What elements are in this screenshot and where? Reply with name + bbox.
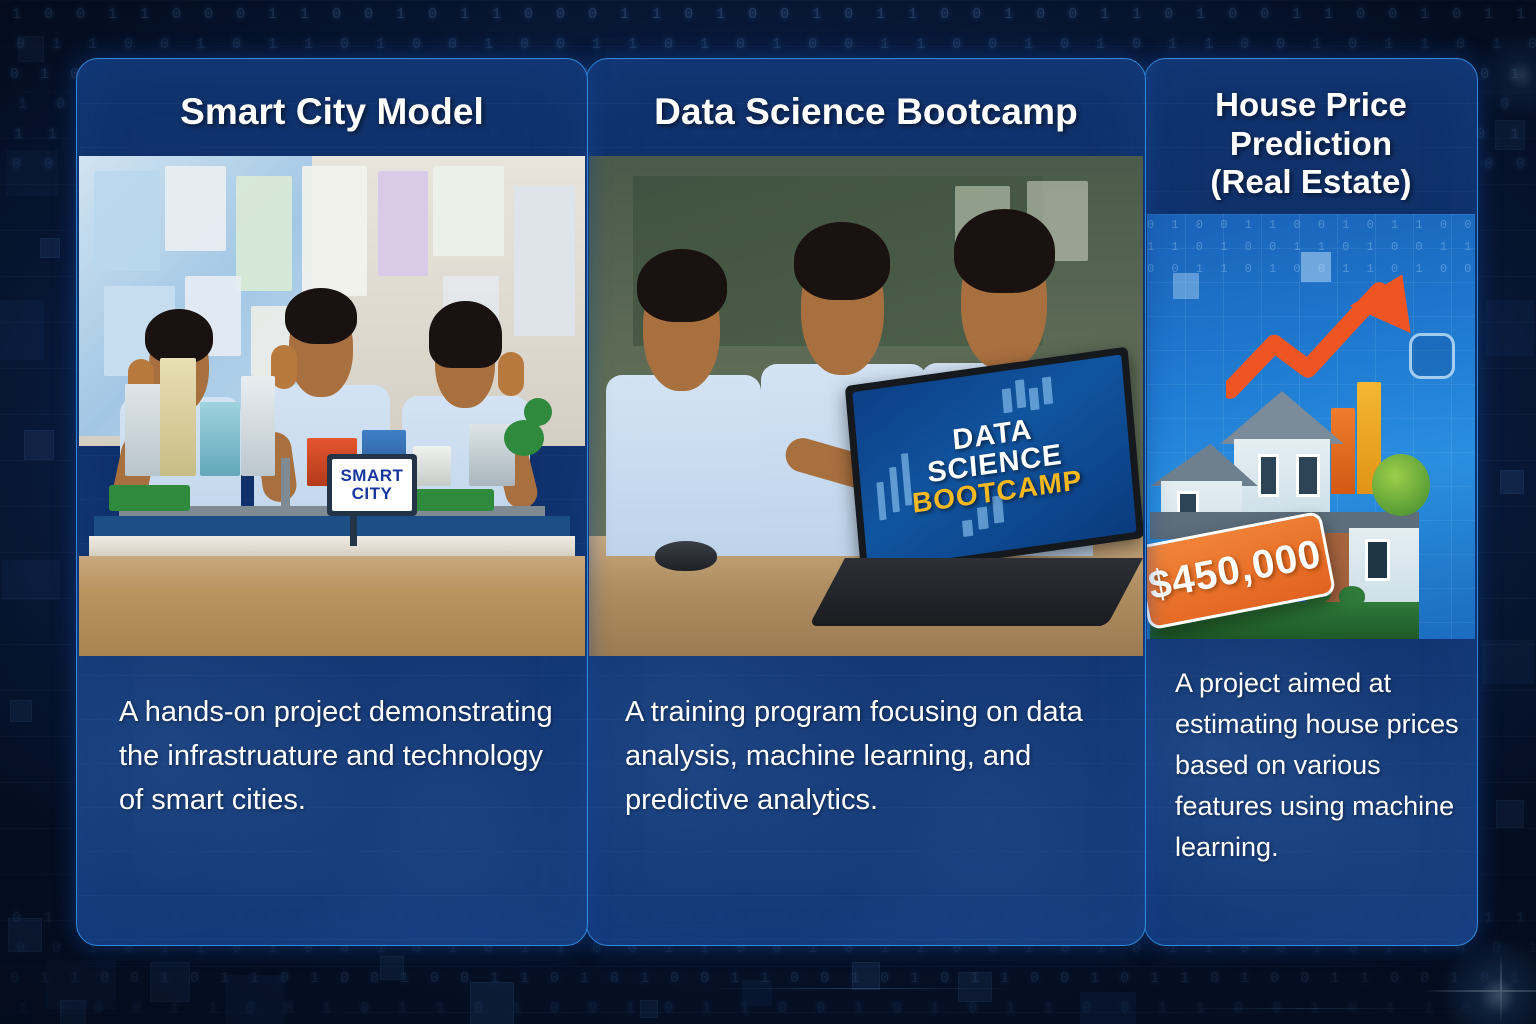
sign-line-2: CITY <box>352 485 393 503</box>
card-description: A training program focusing on data anal… <box>587 656 1145 822</box>
card-image-house-price: 0 1 0 0 1 1 0 0 1 0 1 1 0 0 1 0 1 0 1 1 … <box>1147 214 1475 639</box>
card-house-price-prediction[interactable]: House Price Prediction (Real Estate) 0 1… <box>1144 58 1478 946</box>
card-data-science-bootcamp[interactable]: Data Science Bootcamp <box>586 58 1146 946</box>
smart-city-sign: SMART CITY <box>327 454 417 516</box>
computer-mouse <box>655 541 717 571</box>
card-title: Smart City Model <box>77 59 587 133</box>
card-description: A hands-on project demonstrating the inf… <box>77 656 587 822</box>
home-icon <box>1409 333 1455 379</box>
digit-row: 0 1 0 0 1 1 0 0 1 0 1 1 0 0 1 0 1 0 1 1 … <box>1147 214 1475 236</box>
card-image-smart-city: SMART CITY <box>79 156 585 656</box>
card-smart-city-model[interactable]: Smart City Model <box>76 58 588 946</box>
card-description: A project aimed at estimating house pric… <box>1145 639 1477 868</box>
card-title-line-1: House Price <box>1215 86 1407 123</box>
card-title: Data Science Bootcamp <box>587 59 1145 133</box>
card-title-line-3: (Real Estate) <box>1210 163 1411 200</box>
card-title-line-2: Prediction <box>1230 125 1392 162</box>
price-tag-value: $450,000 <box>1147 532 1326 610</box>
card-title: House Price Prediction (Real Estate) <box>1145 59 1477 202</box>
sign-line-1: SMART <box>340 467 403 485</box>
card-image-bootcamp: DATA SCIENCE BOOTCAMP <box>589 156 1143 656</box>
laptop: DATA SCIENCE BOOTCAMP <box>827 366 1137 626</box>
